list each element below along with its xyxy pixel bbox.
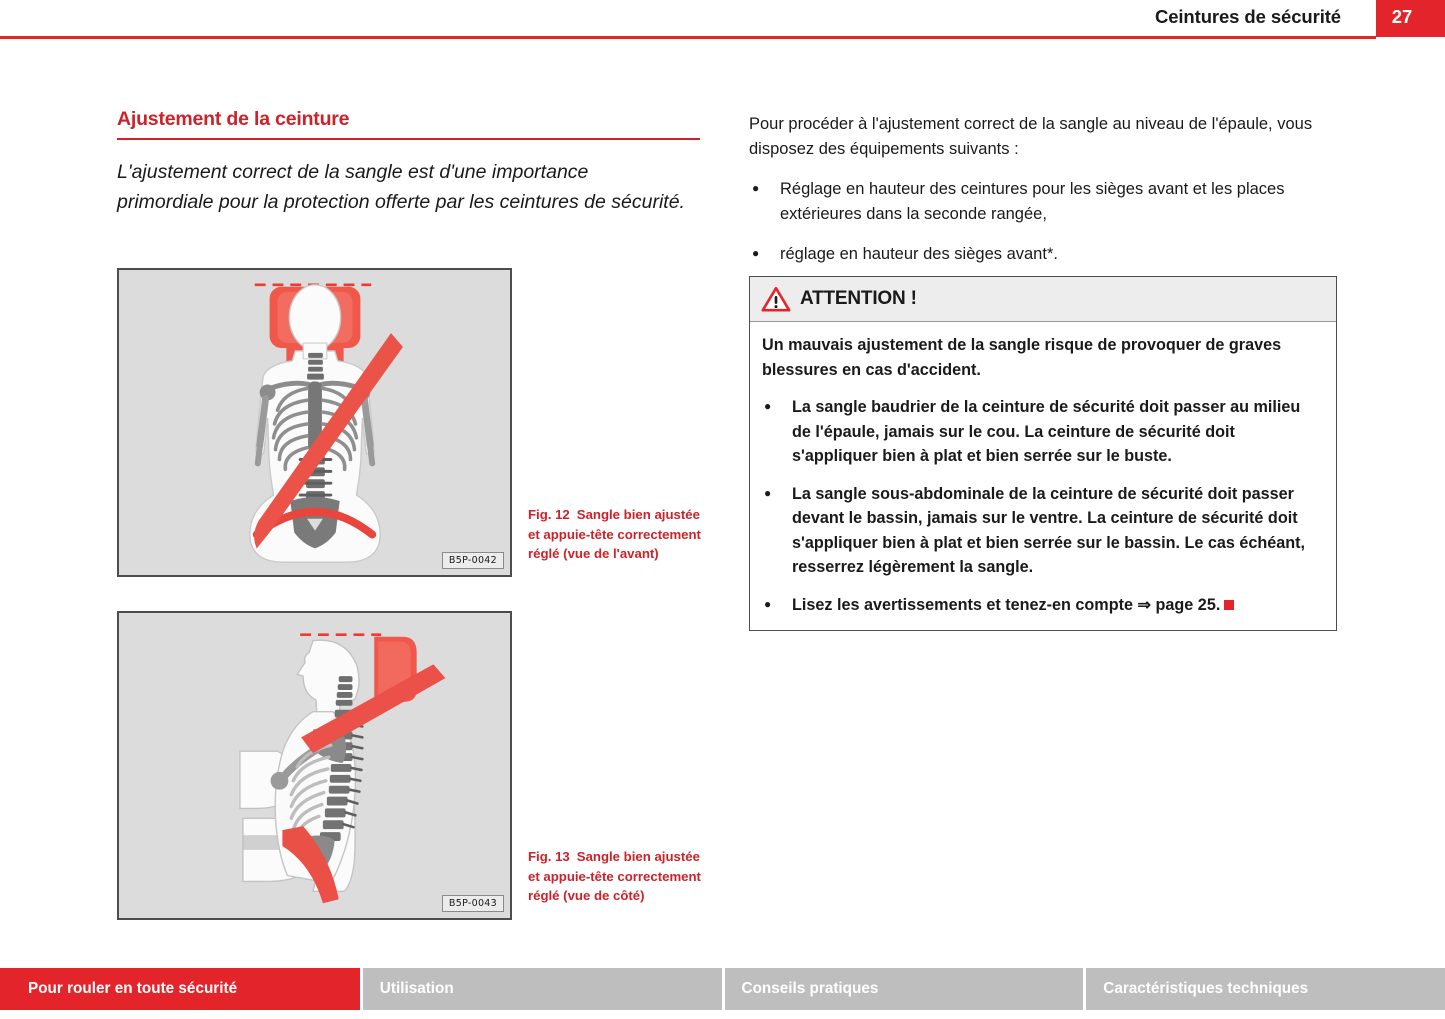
figure-front-view-code: B5P-0042	[442, 552, 504, 569]
right-column: Pour procéder à l'ajustement correct de …	[749, 112, 1337, 267]
section-heading: Ajustement de la ceinture	[117, 108, 700, 131]
page-header: Ceintures de sécurité 27	[0, 0, 1445, 38]
figure-side-view-frame: B5P-0043	[117, 611, 512, 920]
page-title: Ceintures de sécurité	[1155, 6, 1341, 28]
warning-box-header: ATTENTION !	[750, 277, 1336, 322]
figure-side-view-caption: Fig. 13Sangle bien ajustée et appuie-têt…	[528, 847, 703, 906]
warning-box: ATTENTION ! Un mauvais ajustement de la …	[749, 276, 1337, 631]
figure-front-view: B5P-0042	[117, 268, 512, 577]
warning-box-title: ATTENTION !	[800, 288, 917, 310]
right-intro-paragraph: Pour procéder à l'ajustement correct de …	[749, 112, 1337, 162]
warning-list-item: La sangle baudrier de la ceinture de séc…	[762, 395, 1322, 469]
intro-paragraph: L'ajustement correct de la sangle est d'…	[117, 157, 687, 217]
section-heading-rule	[117, 138, 700, 140]
header-rule	[0, 36, 1376, 39]
figure-front-view-frame: B5P-0042	[117, 268, 512, 577]
warning-list-item: La sangle sous-abdominale de la ceinture…	[762, 482, 1322, 580]
warning-box-body: Un mauvais ajustement de la sangle risqu…	[750, 322, 1336, 630]
page-number: 27	[1376, 6, 1428, 28]
footer-tab-conseils[interactable]: Conseils pratiques	[725, 968, 1084, 1010]
warning-intro-text: Un mauvais ajustement de la sangle risqu…	[762, 333, 1322, 382]
list-item: réglage en hauteur des sièges avant*.	[749, 242, 1337, 267]
figure-side-view-number: Fig. 13	[528, 849, 570, 864]
figure-side-view-illustration	[119, 613, 510, 918]
warning-triangle-icon	[761, 286, 791, 312]
figure-side-view-code: B5P-0043	[442, 895, 504, 912]
warning-list-item-text: Lisez les avertissements et tenez-en com…	[792, 596, 1220, 614]
figure-front-view-caption: Fig. 12Sangle bien ajustée et appuie-têt…	[528, 505, 703, 564]
footer-navigation: Pour rouler en toute sécurité Utilisatio…	[0, 968, 1445, 1010]
equipment-list: Réglage en hauteur des ceintures pour le…	[749, 177, 1337, 267]
page-number-box: 27	[1376, 0, 1445, 37]
list-item: Réglage en hauteur des ceintures pour le…	[749, 177, 1337, 227]
footer-tab-utilisation[interactable]: Utilisation	[363, 968, 722, 1010]
end-of-section-marker	[1224, 600, 1234, 610]
left-column: Ajustement de la ceinture L'ajustement c…	[117, 108, 700, 236]
footer-tab-securite[interactable]: Pour rouler en toute sécurité	[0, 968, 360, 1010]
figure-front-view-number: Fig. 12	[528, 507, 570, 522]
figure-front-view-illustration	[119, 270, 510, 575]
figure-side-view: B5P-0043	[117, 611, 512, 920]
warning-list-item: Lisez les avertissements et tenez-en com…	[762, 593, 1322, 618]
footer-tab-caracteristiques[interactable]: Caractéristiques techniques	[1086, 968, 1445, 1010]
